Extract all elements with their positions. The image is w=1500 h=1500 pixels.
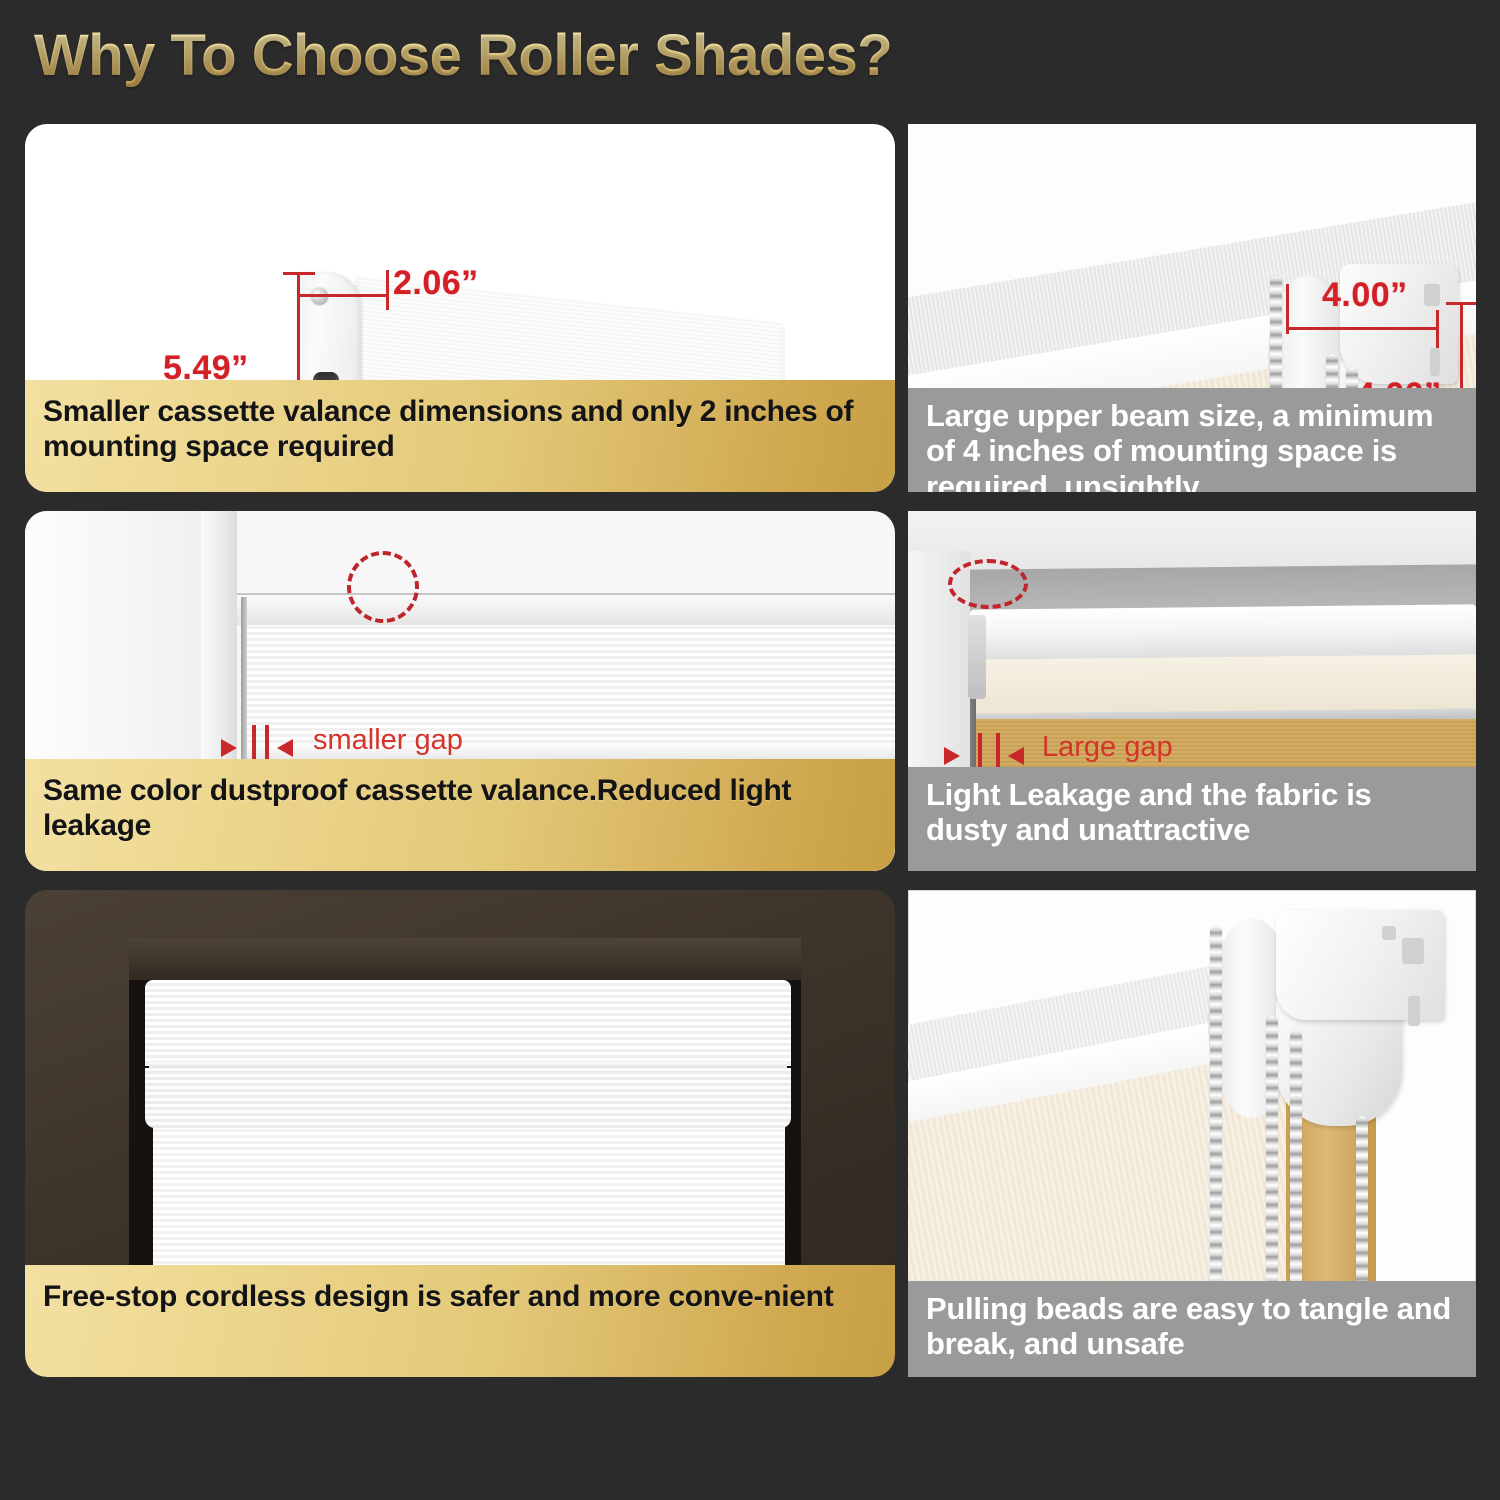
gap-arrow-right xyxy=(277,739,293,757)
panel-con-pulling-beads[interactable]: Pulling beads are easy to tangle and bre… xyxy=(908,890,1476,1377)
caption-con-upper-beam-size: Large upper beam size, a minimum of 4 in… xyxy=(908,388,1476,492)
beam-height-tick-top xyxy=(1446,302,1476,305)
caption-con-pulling-beads: Pulling beads are easy to tangle and bre… xyxy=(908,1281,1476,1377)
height-dimension-tick-top xyxy=(283,272,315,275)
caption-pro-cassette-dimensions: Smaller cassette valance dimensions and … xyxy=(25,380,895,492)
highlight-ellipse-smaller-gap xyxy=(347,551,419,623)
width-dimension-line xyxy=(297,294,389,297)
gap-arrow-left xyxy=(221,739,237,757)
beam-width-dimension-label: 4.00” xyxy=(1322,276,1408,315)
gap-marker-2 xyxy=(265,725,269,763)
gap-callout-label: smaller gap xyxy=(313,724,463,757)
width-dimension-tick-right xyxy=(386,270,389,310)
highlight-ellipse-large-gap xyxy=(948,559,1028,609)
panel-pro-cordless-design[interactable]: Free-stop cordless design is safer and m… xyxy=(25,890,895,1377)
panel-pro-cassette-dimensions[interactable]: 2.06” 5.49” Smaller cassette valance dim… xyxy=(25,124,895,492)
beam-width-tick-left xyxy=(1286,284,1289,334)
panel-con-light-leakage[interactable]: Large gap Light Leakage and the fabric i… xyxy=(908,511,1476,871)
page-title: Why To Choose Roller Shades? xyxy=(34,22,892,89)
caption-pro-dustproof-valance: Same color dustproof cassette valance.Re… xyxy=(25,759,895,871)
panel-con-upper-beam-size[interactable]: 4.00” 4.00” Large upper beam size, a min… xyxy=(908,124,1476,492)
caption-con-light-leakage: Light Leakage and the fabric is dusty an… xyxy=(908,767,1476,871)
gap-callout-label: Large gap xyxy=(1042,731,1173,764)
gap-marker-1 xyxy=(252,725,256,763)
caption-pro-cordless-design: Free-stop cordless design is safer and m… xyxy=(25,1265,895,1377)
width-dimension-label: 2.06” xyxy=(393,264,479,303)
beam-width-tick-right xyxy=(1436,310,1439,348)
panel-pro-dustproof-valance[interactable]: smaller gap Same color dustproof cassett… xyxy=(25,511,895,871)
beam-width-dimension-line xyxy=(1286,327,1438,330)
gap-arrow-right xyxy=(1008,747,1024,765)
gap-arrow-left xyxy=(944,747,960,765)
